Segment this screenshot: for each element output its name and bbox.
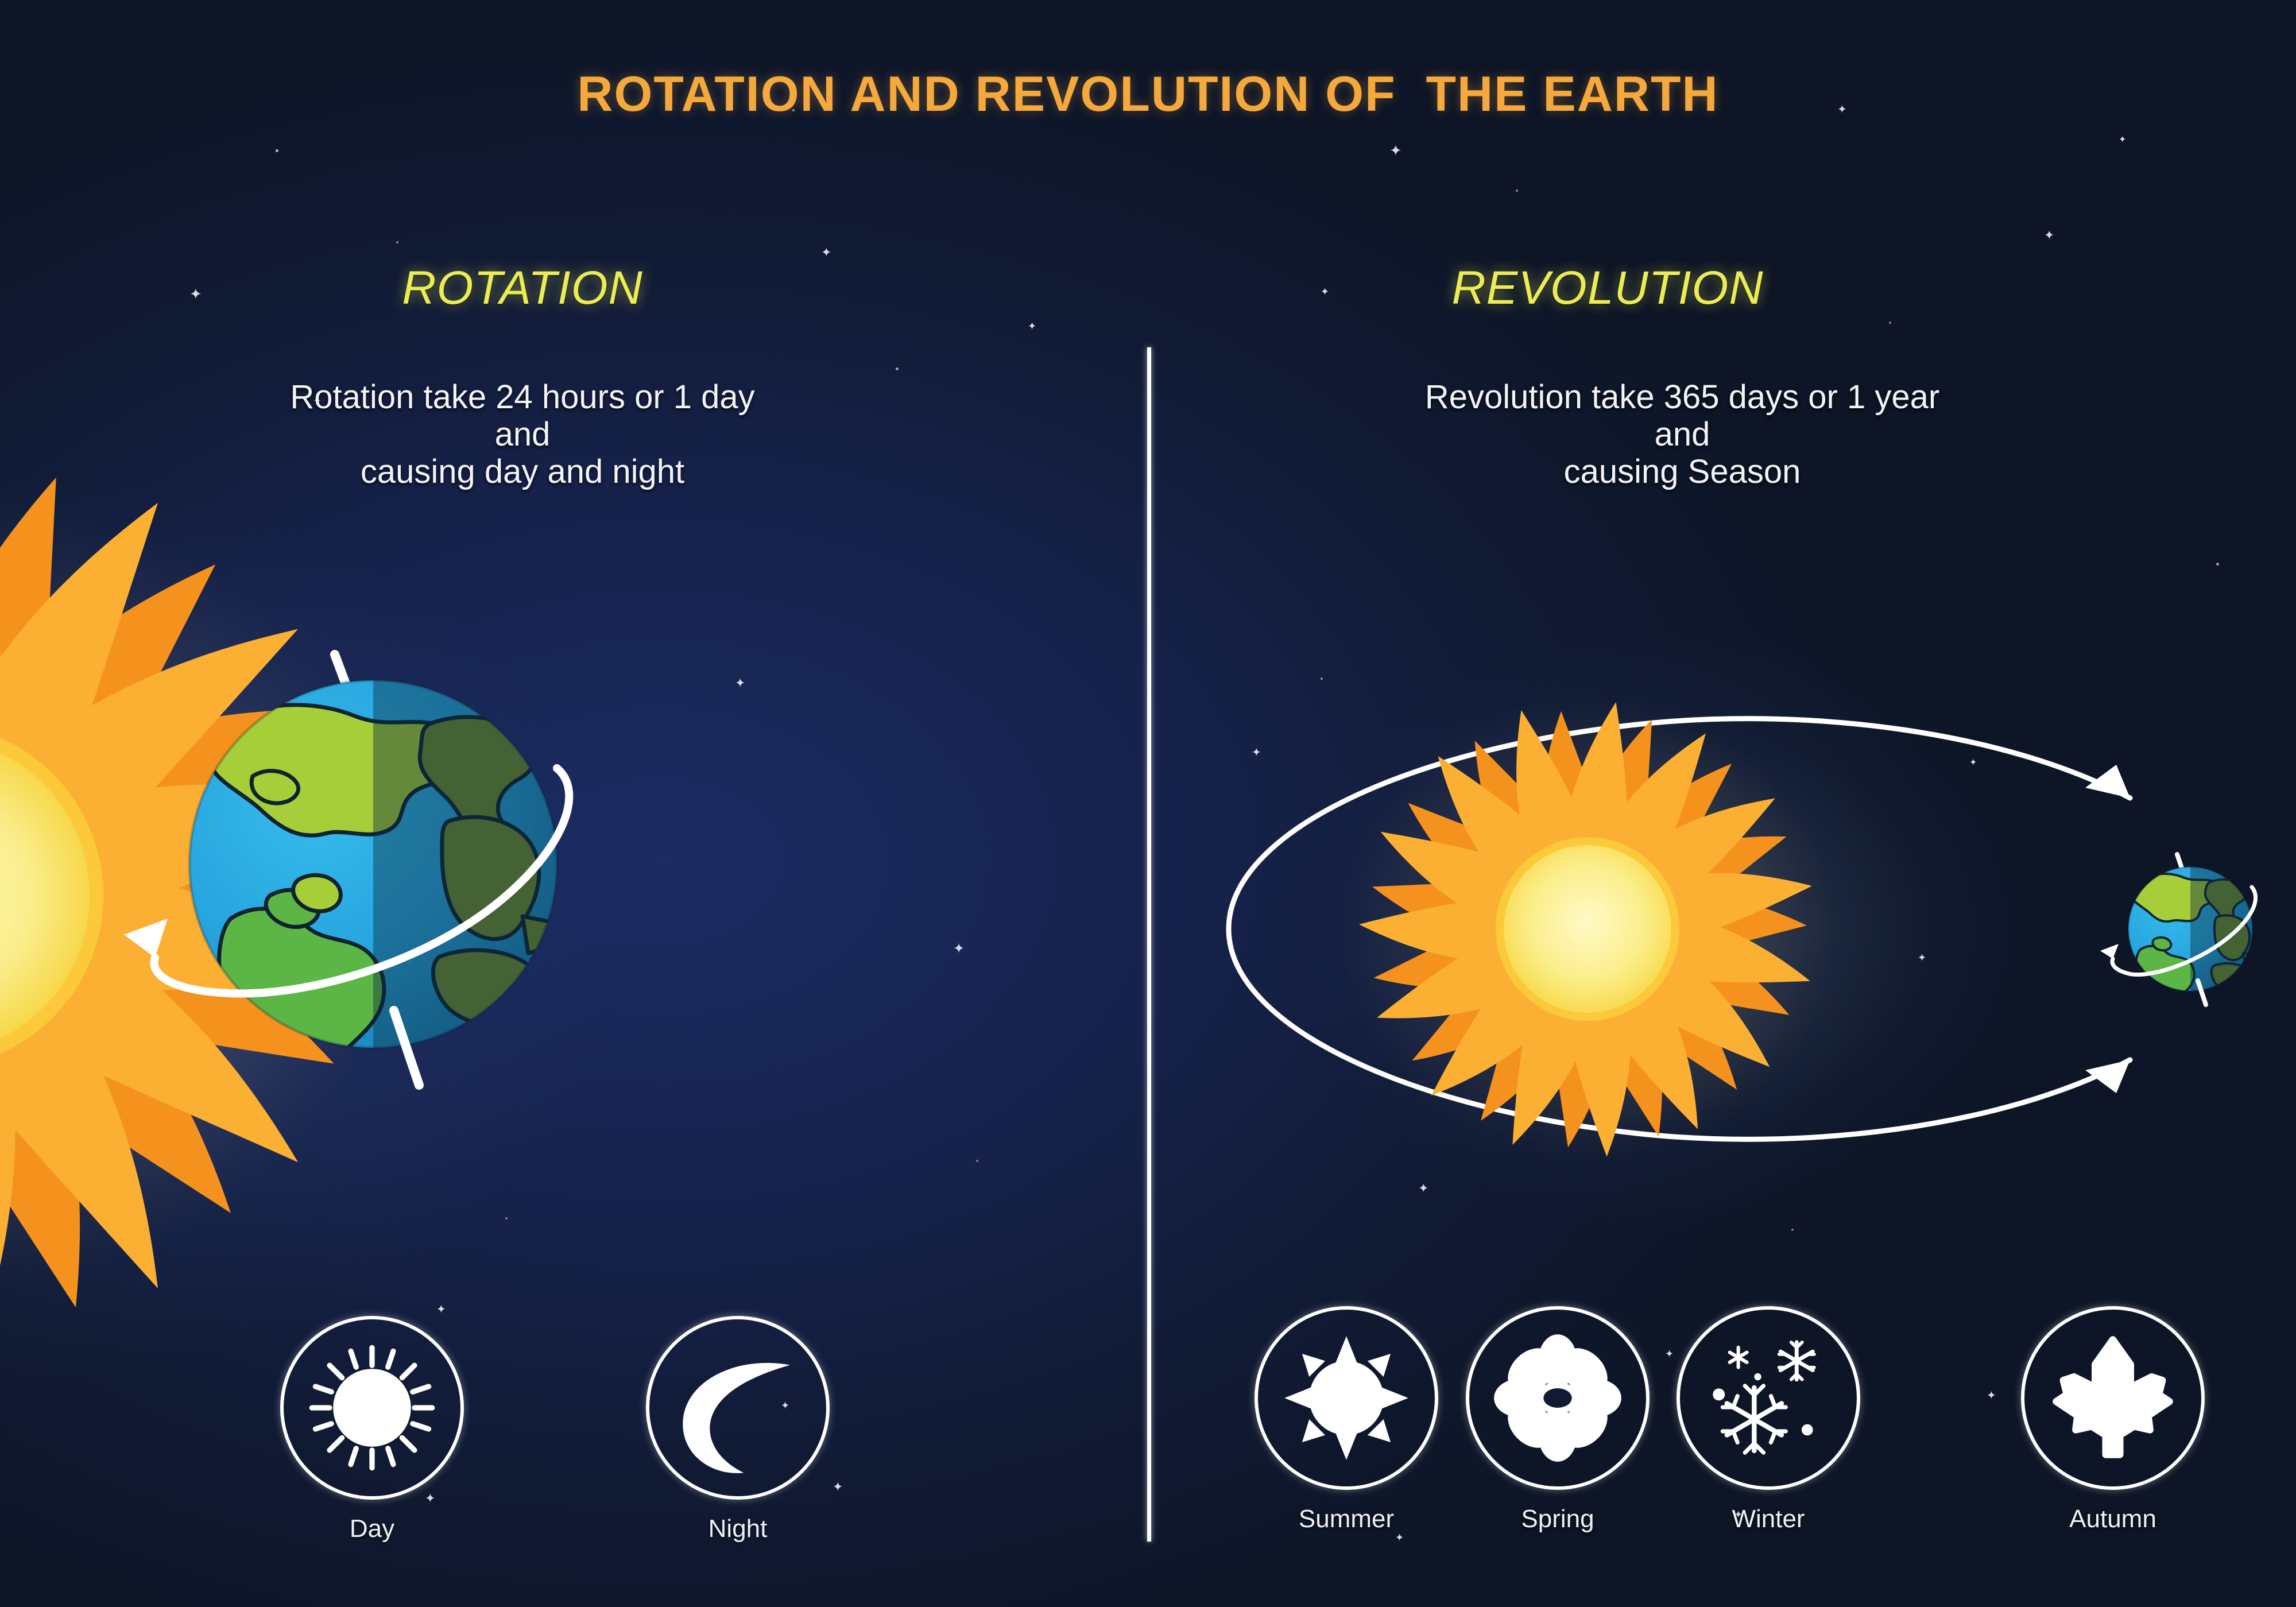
icon-label-summer: Summer xyxy=(1255,1505,1438,1534)
icon-cell-winter[interactable]: Winter xyxy=(1676,1306,1860,1534)
icon-label-day: Day xyxy=(280,1515,464,1543)
icon-ring xyxy=(1676,1306,1860,1490)
icon-ring xyxy=(1255,1306,1438,1490)
icon-label-night: Night xyxy=(646,1515,830,1543)
column-divider xyxy=(1147,347,1151,1542)
icon-cell-autumn[interactable]: Autumn xyxy=(2021,1306,2205,1534)
sun-star-icon xyxy=(1258,1310,1435,1486)
sun-rays-icon xyxy=(284,1319,460,1496)
icon-label-winter: Winter xyxy=(1676,1505,1860,1534)
icon-label-spring: Spring xyxy=(1466,1505,1650,1534)
icon-cell-night[interactable]: Night xyxy=(646,1316,830,1543)
earth-globe-icon xyxy=(2128,861,2262,1009)
icon-ring xyxy=(646,1316,830,1500)
icon-label-autumn: Autumn xyxy=(2021,1505,2205,1534)
crescent-moon-icon xyxy=(649,1319,826,1496)
page-title: ROTATION AND REVOLUTION OF THE EARTH xyxy=(0,66,2296,123)
revolution-heading: REVOLUTION xyxy=(1303,261,1912,315)
icon-cell-summer[interactable]: Summer xyxy=(1255,1306,1438,1534)
revolution-description: Revolution take 365 days or 1 year and c… xyxy=(1280,379,2084,491)
icon-cell-spring[interactable]: Spring xyxy=(1466,1306,1650,1534)
rotation-heading: ROTATION xyxy=(304,261,741,315)
icon-ring xyxy=(280,1316,464,1500)
icon-cell-day[interactable]: Day xyxy=(280,1316,464,1543)
infographic-canvas: ✦ ✦ ✦ ✦ ✦ ✦ ✦ ✦ ✦ ✦ ✦ ✦ ✦ ✦ ✦ ✦ ✦ ✦ ✦ ✦ … xyxy=(0,0,2296,1607)
rotation-diagram xyxy=(0,551,1022,1240)
icon-ring xyxy=(2021,1306,2205,1490)
rotation-description: Rotation take 24 hours or 1 day and caus… xyxy=(161,379,884,491)
maple-leaf-icon xyxy=(2024,1310,2201,1486)
revolution-diagram xyxy=(1160,700,2296,1154)
snowflake-icon xyxy=(1680,1310,1857,1486)
flower-icon xyxy=(1469,1310,1646,1486)
rotation-arrowhead xyxy=(2100,944,2119,959)
icon-ring xyxy=(1466,1306,1650,1490)
